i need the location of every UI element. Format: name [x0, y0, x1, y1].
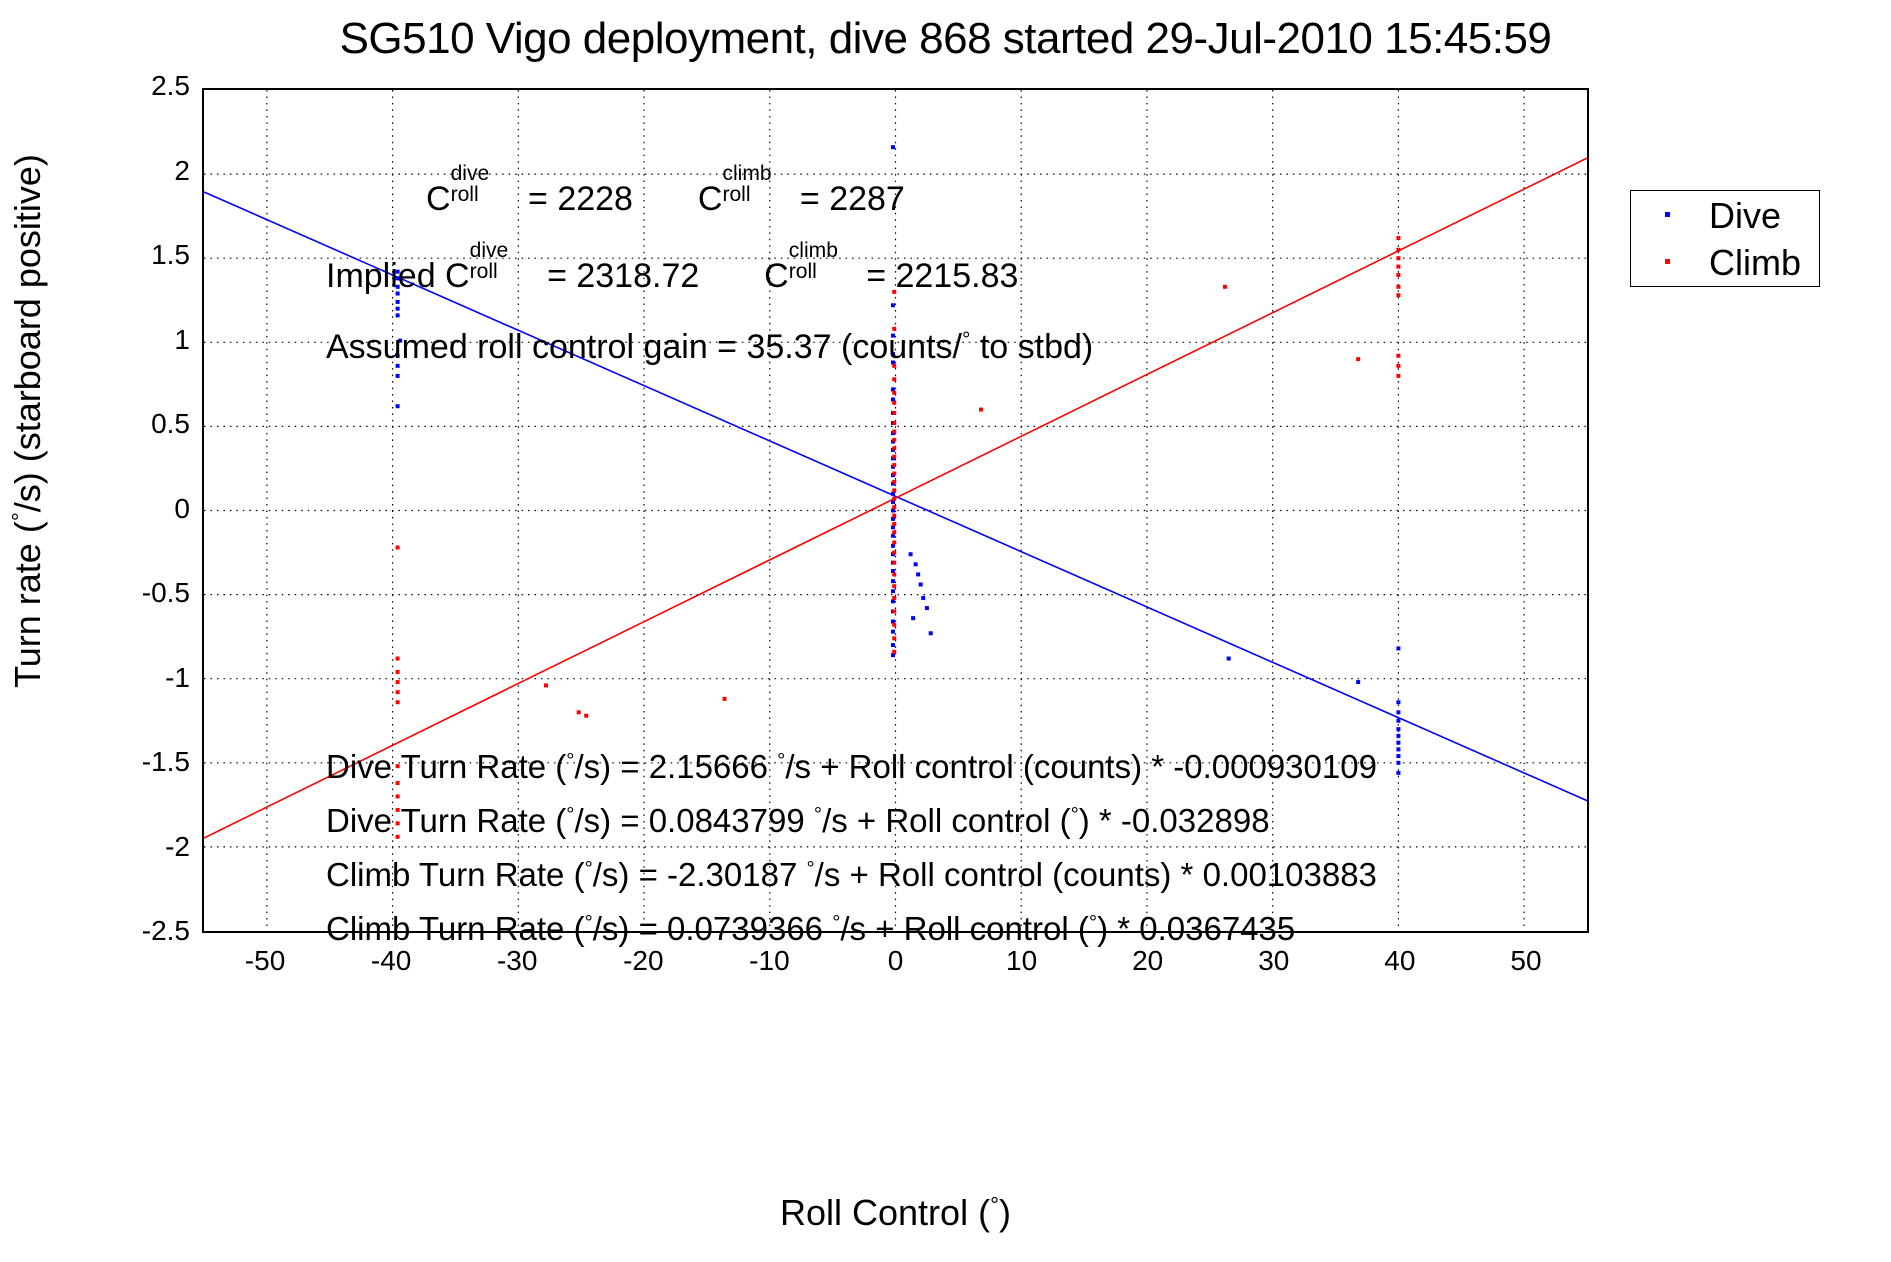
annotation-line-1: Cdiveroll = 2228 Cclimbroll = 2287: [426, 176, 905, 219]
c-dive-exponents: diveroll: [451, 176, 519, 210]
eq2-deg2-icon: °: [814, 803, 822, 826]
x-tick-label: -50: [205, 945, 325, 977]
c-climb-value: = 2287: [800, 180, 905, 218]
x-tick-label: 0: [836, 945, 956, 977]
y-axis-label: Turn rate (°/s) (starboard positive): [7, 1, 49, 841]
legend-item-climb[interactable]: Climb: [1631, 238, 1821, 286]
eq2-mid: /s) = 0.0843799: [574, 802, 813, 839]
y-tick-label: -2.5: [66, 915, 190, 947]
eq3-post: /s + Roll control (counts) * 0.00103883: [815, 856, 1377, 893]
gain-text-a: Assumed roll control gain = 35.37 (count…: [326, 328, 962, 366]
y-tick-label: -0.5: [66, 577, 190, 609]
y-tick-label: 0: [66, 493, 190, 525]
x-tick-label: 10: [962, 945, 1082, 977]
x-tick-label: -10: [709, 945, 829, 977]
data-points: [396, 145, 1401, 839]
eq1-post: /s + Roll control (counts) * -0.00093010…: [785, 748, 1377, 785]
legend-label-climb: Climb: [1709, 242, 1801, 284]
y-tick-label: 1: [66, 324, 190, 356]
c-climb-symbol: C: [698, 180, 723, 218]
equation-climb-degrees: Climb Turn Rate (°/s) = 0.0739366 °/s + …: [326, 910, 1295, 948]
eq3-mid: /s) = -2.30187: [593, 856, 807, 893]
x-tick-label: -30: [457, 945, 577, 977]
legend-item-dive[interactable]: Dive: [1631, 191, 1821, 239]
eq4-deg1-icon: °: [585, 911, 593, 934]
implied-climb-exponents: climbroll: [789, 253, 857, 287]
eq3-deg2-icon: °: [806, 857, 814, 880]
eq4-tail: ) * 0.0367435: [1097, 910, 1295, 947]
x-tick-label: 40: [1340, 945, 1460, 977]
legend-marker-dive: [1665, 212, 1670, 217]
x-tick-label: -40: [331, 945, 451, 977]
c-climb-exponents: climbroll: [722, 176, 790, 210]
chart-title: SG510 Vigo deployment, dive 868 started …: [0, 14, 1891, 64]
eq4-pre: Climb Turn Rate (: [326, 910, 585, 947]
y-tick-label: 2: [66, 155, 190, 187]
legend-marker-climb: [1665, 259, 1670, 264]
degree-sign-icon: °: [990, 1193, 999, 1218]
eq2-tail: ) * -0.032898: [1079, 802, 1270, 839]
x-tick-label: -20: [583, 945, 703, 977]
eq3-deg1-icon: °: [585, 857, 593, 880]
y-tick-label: 1.5: [66, 239, 190, 271]
eq4-post: /s + Roll control (: [840, 910, 1089, 947]
plot-area: Dive Climb Cdiveroll = 2228 Cclimbroll =…: [202, 88, 1589, 933]
equation-dive-degrees: Dive Turn Rate (°/s) = 0.0843799 °/s + R…: [326, 802, 1270, 840]
eq2-pre: Dive Turn Rate (: [326, 802, 566, 839]
eq4-deg3-icon: °: [1089, 911, 1097, 934]
eq2-post: /s + Roll control (: [822, 802, 1071, 839]
x-tick-label: 30: [1214, 945, 1334, 977]
y-tick-label: -1: [66, 662, 190, 694]
y-tick-label: -2: [66, 831, 190, 863]
x-axis-label: Roll Control (°): [202, 1192, 1589, 1234]
implied-dive-value: = 2318.72: [547, 257, 699, 295]
equation-dive-counts: Dive Turn Rate (°/s) = 2.15666 °/s + Rol…: [326, 748, 1377, 786]
x-tick-label: 50: [1466, 945, 1586, 977]
eq4-mid: /s) = 0.0739366: [593, 910, 832, 947]
c-dive-value: = 2228: [528, 180, 633, 218]
annotation-line-2: Implied Cdiveroll = 2318.72 Cclimbroll =…: [326, 253, 1018, 296]
x-tick-label: 20: [1088, 945, 1208, 977]
annotation-gain: Assumed roll control gain = 35.37 (count…: [326, 328, 1093, 367]
figure-root: SG510 Vigo deployment, dive 868 started …: [0, 0, 1891, 1262]
legend[interactable]: Dive Climb: [1630, 190, 1820, 287]
eq1-mid: /s) = 2.15666: [574, 748, 777, 785]
implied-climb-value: = 2215.83: [866, 257, 1018, 295]
y-tick-label: 2.5: [66, 70, 190, 102]
y-tick-label: -1.5: [66, 746, 190, 778]
equation-climb-counts: Climb Turn Rate (°/s) = -2.30187 °/s + R…: [326, 856, 1377, 894]
eq3-pre: Climb Turn Rate (: [326, 856, 585, 893]
eq1-pre: Dive Turn Rate (: [326, 748, 566, 785]
implied-dive-exponents: diveroll: [470, 253, 538, 287]
gain-text-c: to stbd): [970, 328, 1093, 366]
legend-label-dive: Dive: [1709, 195, 1781, 237]
c-dive-symbol: C: [426, 180, 451, 218]
implied-climb-symbol: C: [764, 257, 789, 295]
degree-sign-icon: °: [8, 512, 33, 521]
eq2-deg3-icon: °: [1071, 803, 1079, 826]
y-tick-label: 0.5: [66, 408, 190, 440]
implied-prefix: Implied C: [326, 257, 470, 295]
